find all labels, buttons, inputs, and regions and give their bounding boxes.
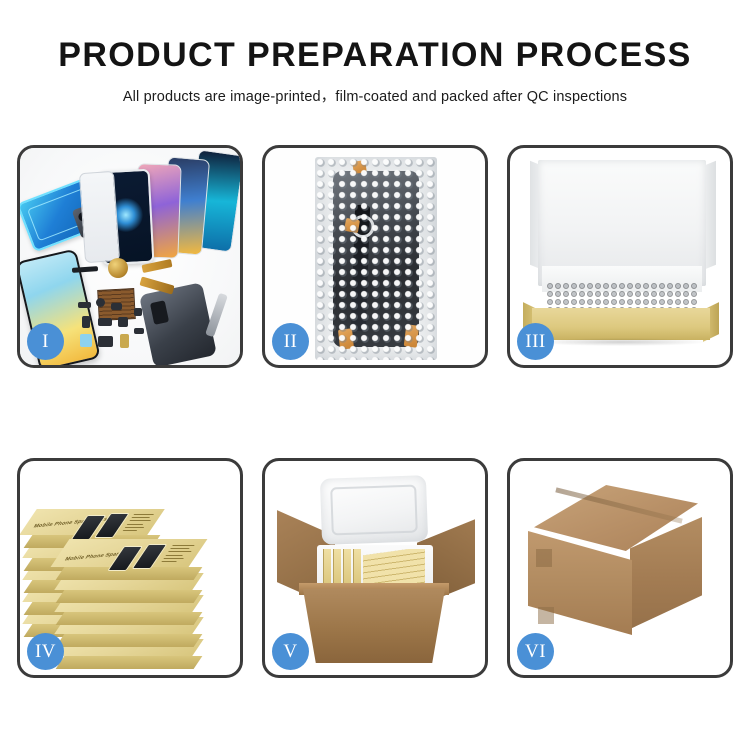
- step-badge-1: I: [27, 323, 64, 360]
- step-badge-2: II: [272, 323, 309, 360]
- page-header: PRODUCT PREPARATION PROCESS All products…: [0, 38, 750, 106]
- step-badge-5: V: [272, 633, 309, 670]
- process-step-grid: I II: [17, 145, 733, 678]
- page-subtitle: All products are image-printed，film-coat…: [0, 85, 750, 106]
- step-badge-6: VI: [517, 633, 554, 670]
- page-title: PRODUCT PREPARATION PROCESS: [0, 38, 750, 74]
- step-badge-3: III: [517, 323, 554, 360]
- step-panel-3[interactable]: III: [507, 145, 733, 368]
- step-panel-2[interactable]: II: [262, 145, 488, 368]
- step-panel-4[interactable]: Mobile Phone Spare Parts: [17, 458, 243, 678]
- step-badge-4: IV: [27, 633, 64, 670]
- step-panel-6[interactable]: VI: [507, 458, 733, 678]
- product-preparation-page: PRODUCT PREPARATION PROCESS All products…: [0, 0, 750, 750]
- step-panel-5[interactable]: V: [262, 458, 488, 678]
- step-panel-1[interactable]: I: [17, 145, 243, 368]
